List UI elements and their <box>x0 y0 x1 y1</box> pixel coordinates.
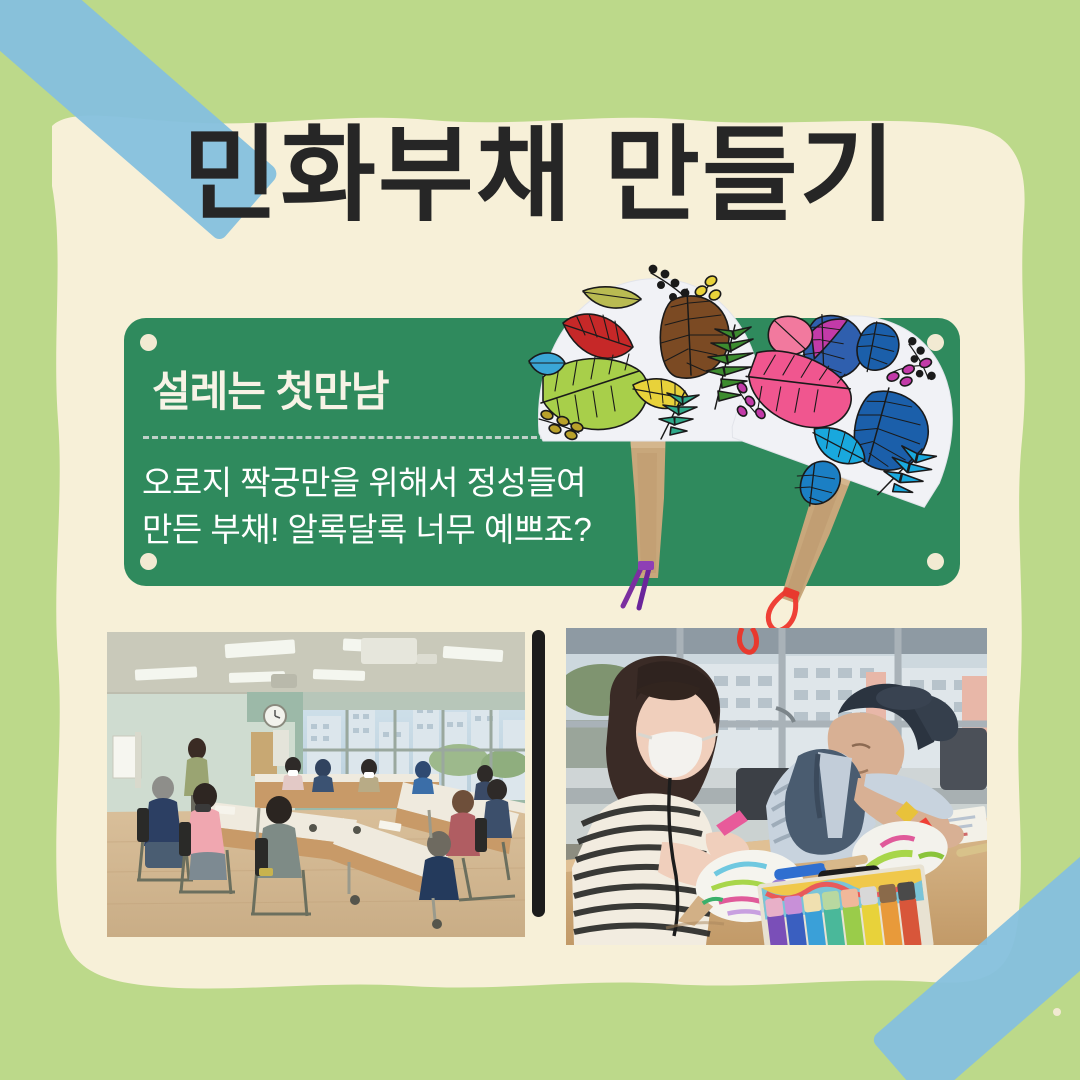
page-title: 민화부채 만들기 <box>0 122 1080 231</box>
card-hole-bottom-left <box>140 553 157 570</box>
photo-divider-bar <box>532 630 545 917</box>
decorative-corner-dot <box>1053 1008 1061 1016</box>
classroom-group-photo <box>107 632 525 937</box>
poster-canvas: 민화부채 만들기 설레는 첫만남 오로지 짝궁만을 위해서 정성들여 만든 부채… <box>0 0 1080 1080</box>
card-heading: 설레는 첫만남 <box>152 358 389 419</box>
card-hole-top-left <box>140 334 157 351</box>
right-fan-ribbon <box>764 584 802 634</box>
right-fan <box>735 290 965 630</box>
fan-coloring-photo <box>566 628 987 945</box>
left-fan-ribbon <box>623 561 654 608</box>
left-fan-handle <box>629 423 666 578</box>
